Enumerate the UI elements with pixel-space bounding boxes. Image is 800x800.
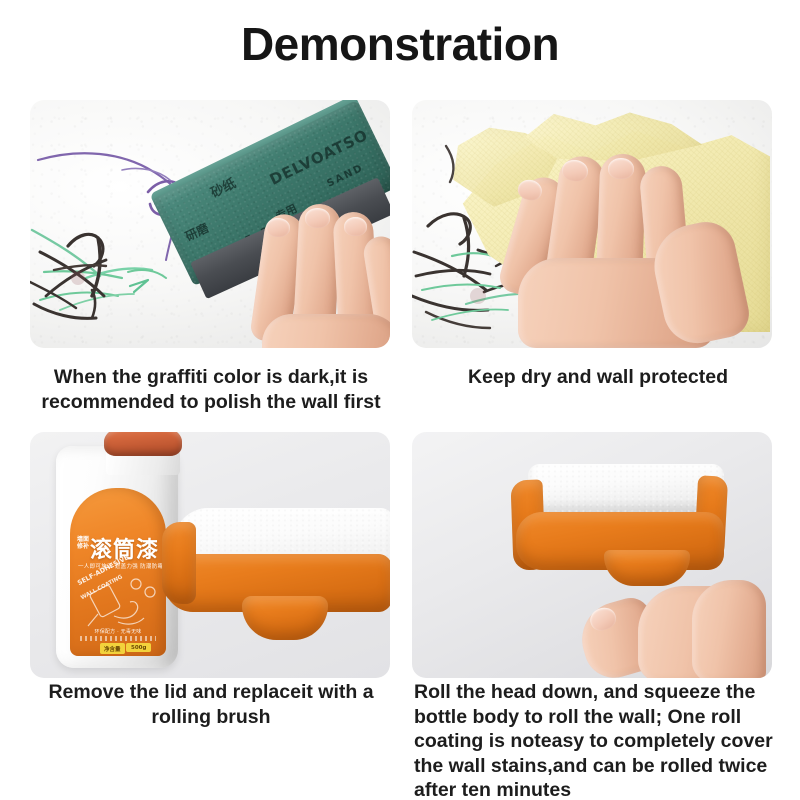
roller-stem <box>242 596 328 640</box>
demonstration-page: Demonstration <box>0 0 800 800</box>
panel-roll <box>412 432 772 678</box>
bottle-label: 墙面修补 滚筒漆 一人即可施工 遮盖力强 防潮防霉 自然干燥 <box>70 488 166 656</box>
label-footer-text: 环保配方 · 无毒无味 <box>78 628 158 635</box>
roller-end-cap-left <box>162 522 196 604</box>
panel-sanding: DELVOATSO 砂纸 研磨 SAND 专用 5 2 <box>30 100 390 348</box>
palm <box>262 314 390 348</box>
label-badge-weight: 500g <box>126 643 151 652</box>
caption-wipe: Keep dry and wall protected <box>412 365 784 390</box>
hand-panel-2 <box>508 128 738 344</box>
label-badge-netweight: 净含量 <box>100 643 125 654</box>
caption-sanding: When the graffiti color is dark,it is re… <box>18 365 404 415</box>
caption-roll: Roll the head down, and squeeze the bott… <box>414 680 786 800</box>
roller-brush <box>164 508 390 654</box>
fingernail-index <box>266 218 290 237</box>
panel-wipe <box>412 100 772 348</box>
panel-sanding-photo: DELVOATSO 砂纸 研磨 SAND 专用 5 2 <box>30 100 390 348</box>
fingernail-middle <box>305 208 330 228</box>
hand-panel-4 <box>582 580 762 678</box>
label-illustration <box>78 574 158 636</box>
label-side-text: 墙面修补 <box>77 536 89 550</box>
panel-bottle: 墙面修补 滚筒漆 一人即可施工 遮盖力强 防潮防霉 自然干燥 <box>30 432 390 678</box>
page-title: Demonstration <box>0 16 800 72</box>
palm-edge <box>692 580 766 678</box>
panel-roll-photo <box>412 432 772 678</box>
label-divider <box>80 636 156 641</box>
panel-wipe-photo <box>412 100 772 348</box>
panel-bottle-photo: 墙面修补 滚筒漆 一人即可施工 遮盖力强 防潮防霉 自然干燥 <box>30 432 390 678</box>
hand-panel-1 <box>252 196 390 348</box>
roller-pad-texture <box>528 464 724 512</box>
bottle-cap <box>104 432 182 456</box>
fingernail-ring <box>608 158 634 179</box>
fingernail-ring <box>344 217 367 236</box>
roller-applicator <box>508 464 738 594</box>
caption-bottle: Remove the lid and replaceit with a roll… <box>18 680 404 730</box>
paint-bottle: 墙面修补 滚筒漆 一人即可施工 遮盖力强 防潮防霉 自然干燥 <box>56 446 178 668</box>
roller-pad <box>528 464 724 512</box>
